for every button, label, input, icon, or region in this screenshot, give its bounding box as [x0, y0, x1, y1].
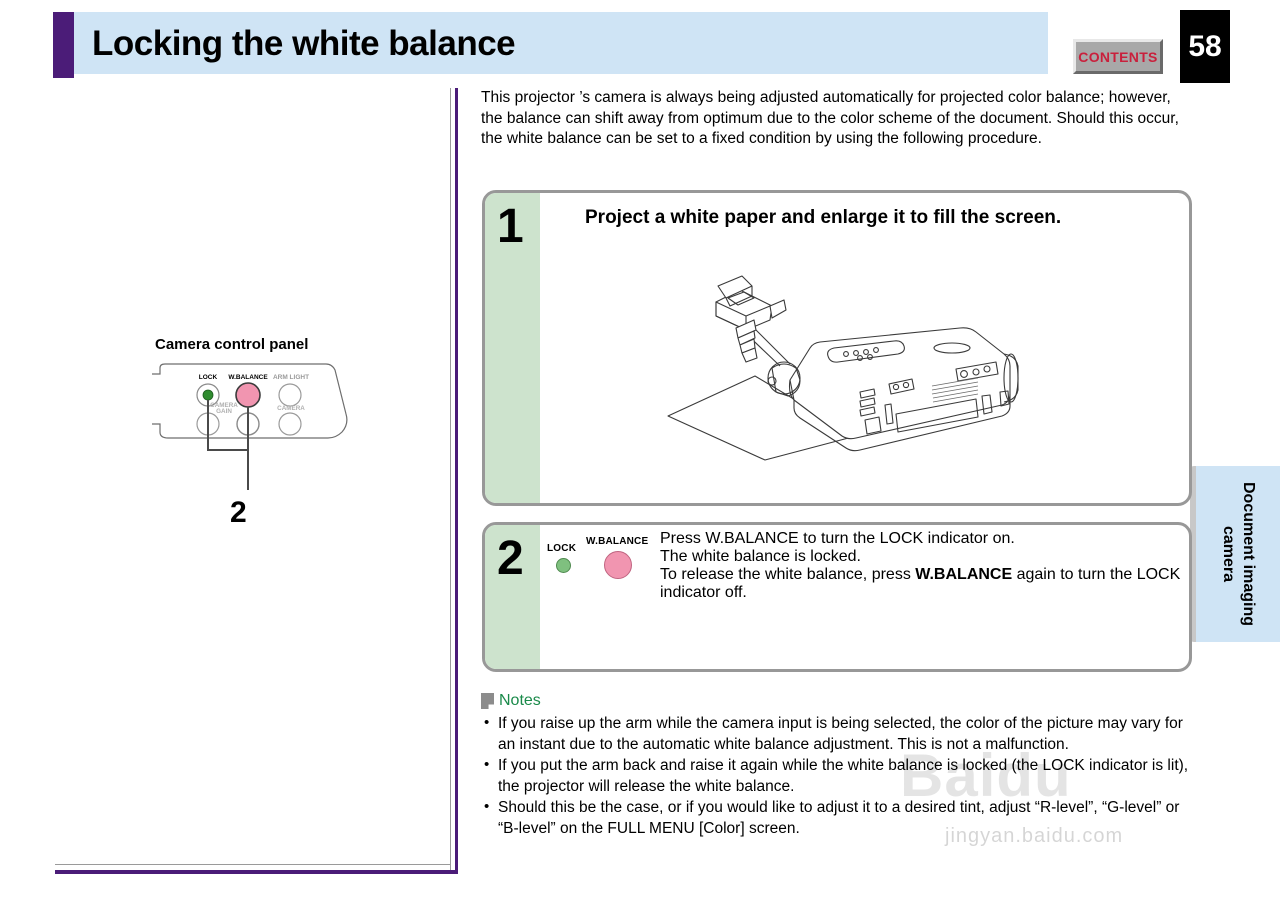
list-item: If you raise up the arm while the camera…: [481, 714, 1191, 755]
step-2-sub2-bold: W.BALANCE: [915, 566, 1012, 583]
page-title: Locking the white balance: [92, 22, 515, 66]
page-bottom-rule: [55, 870, 458, 874]
page-number-value: 58: [1188, 30, 1221, 64]
step-2-sub2-pre: To release the white balance, press: [660, 566, 915, 583]
step-2-heading: Press W.BALANCE to turn the LOCK indicat…: [660, 530, 1185, 548]
projector-illustration: [660, 268, 1050, 468]
camera-control-panel-diagram: LOCK W.BALANCE ARM LIGHT CAMERA GAIN CAM…: [150, 362, 360, 492]
side-tab-label: Document imaging camera: [1196, 466, 1280, 642]
notes-title: Notes: [499, 692, 541, 710]
step-1-number: 1: [497, 201, 524, 253]
header-accent-bar: [53, 12, 74, 78]
svg-text:CAMERA: CAMERA: [277, 405, 305, 412]
svg-text:GAIN: GAIN: [216, 408, 232, 415]
page-vertical-rule-thin: [450, 88, 451, 873]
list-item: Should this be the case, or if you would…: [481, 798, 1191, 839]
page-bottom-rule-thin: [55, 864, 451, 865]
notes-header: Notes: [481, 692, 1191, 710]
step-2-text: Press W.BALANCE to turn the LOCK indicat…: [660, 530, 1185, 602]
w-balance-button-icon: [604, 551, 632, 579]
step-2-indicator-cluster: LOCK W.BALANCE: [542, 532, 652, 586]
contents-button[interactable]: CONTENTS: [1073, 39, 1163, 74]
page-vertical-rule: [455, 88, 458, 873]
step-2-number: 2: [497, 533, 524, 585]
svg-text:ARM LIGHT: ARM LIGHT: [273, 374, 309, 381]
step-2-sub-line-1: The white balance is locked.: [660, 548, 1185, 566]
contents-button-label: CONTENTS: [1078, 49, 1157, 65]
lock-indicator-label: LOCK: [547, 543, 576, 554]
notes-section: Notes If you raise up the arm while the …: [481, 692, 1191, 840]
svg-text:W.BALANCE: W.BALANCE: [228, 374, 268, 381]
figure-callout-number: 2: [230, 496, 247, 530]
page-number-badge: 58: [1180, 10, 1230, 83]
lock-led-icon: [556, 558, 571, 573]
intro-paragraph: This projector ’s camera is always being…: [481, 88, 1191, 150]
step-2-sub-line-2: To release the white balance, press W.BA…: [660, 566, 1185, 602]
figure-caption: Camera control panel: [155, 336, 308, 353]
svg-text:LOCK: LOCK: [199, 374, 218, 381]
step-1-heading: Project a white paper and enlarge it to …: [585, 193, 1105, 230]
note-page-icon: [481, 693, 494, 709]
list-item: If you put the arm back and raise it aga…: [481, 756, 1191, 797]
camera-control-panel-figure: Camera control panel LOCK W.BALANCE ARM …: [150, 336, 360, 536]
w-balance-button-label: W.BALANCE: [586, 536, 648, 547]
